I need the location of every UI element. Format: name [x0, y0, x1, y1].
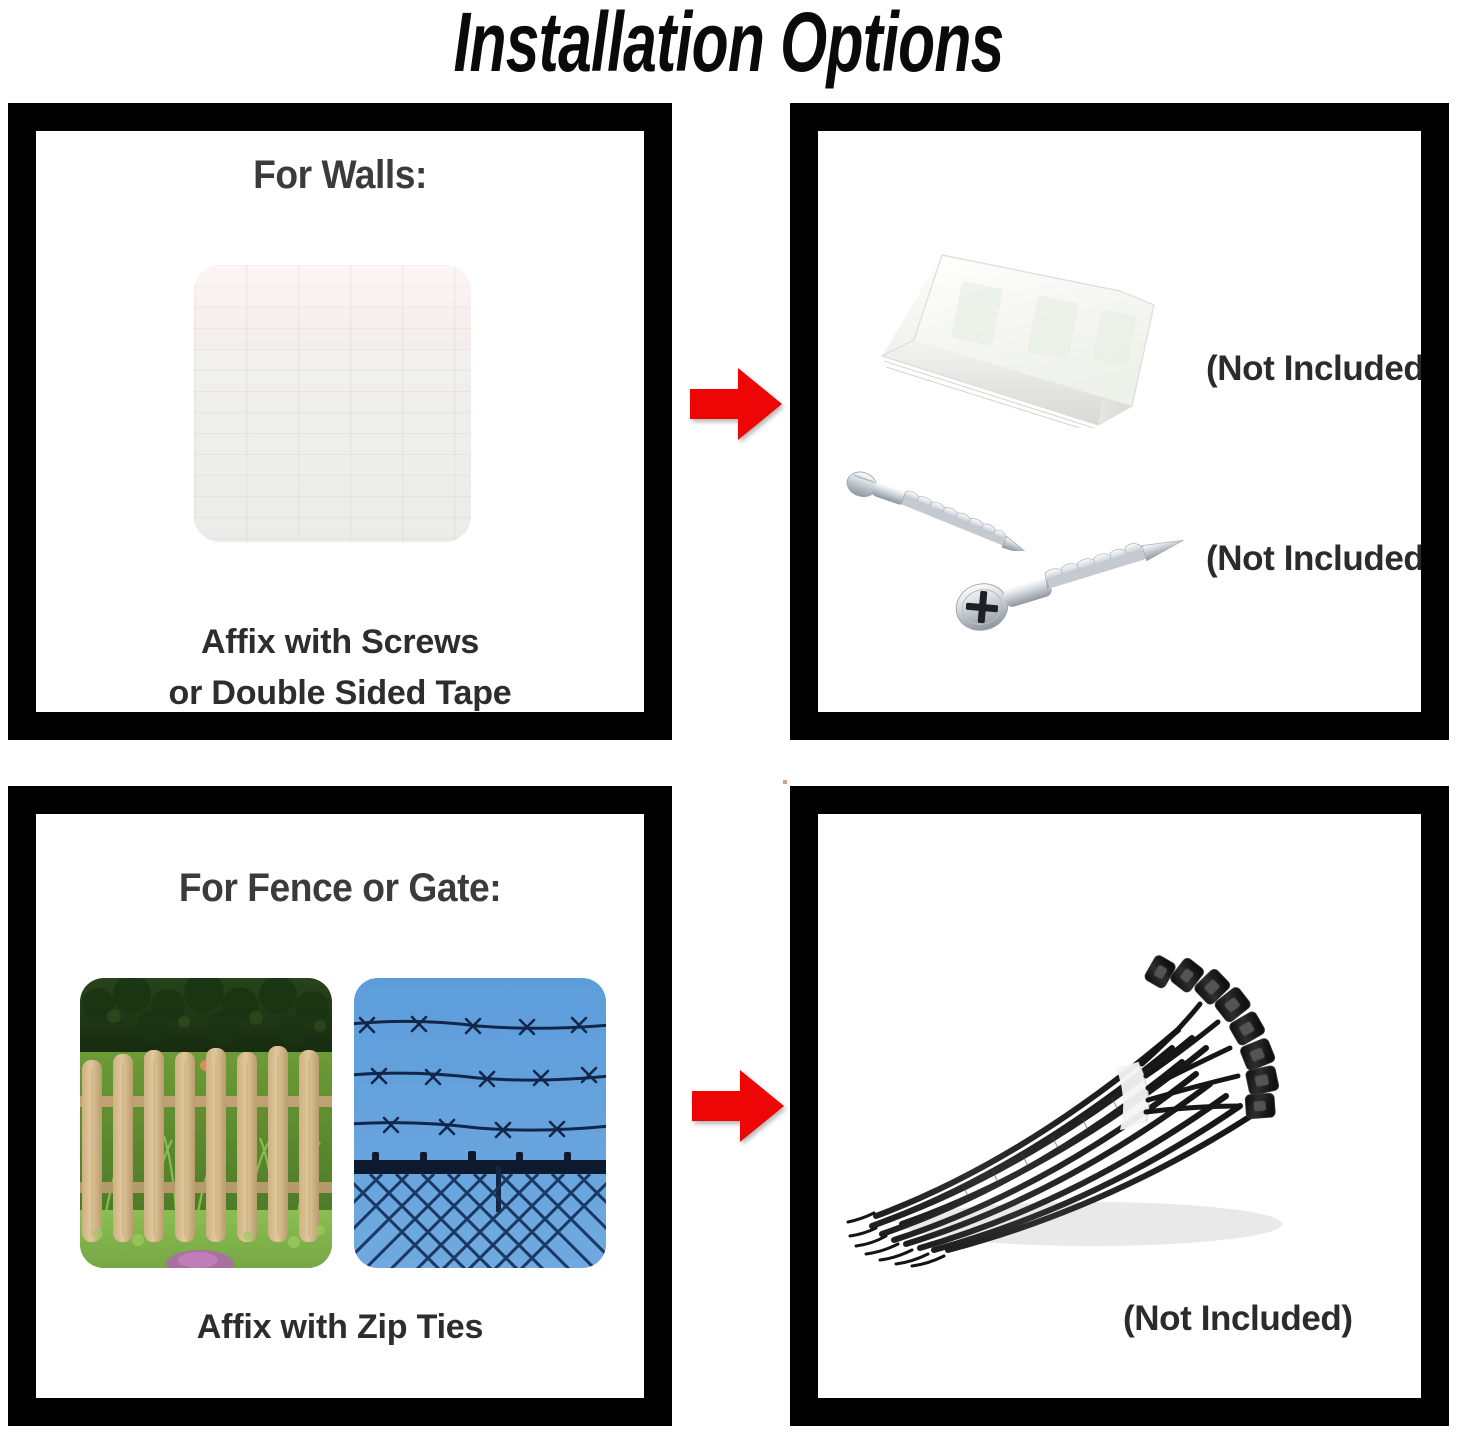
white-brick-wall-photo — [194, 265, 471, 542]
screws-not-included-note: (Not Included) — [1206, 539, 1421, 579]
panel-wall-hardware: (Not Included) — [790, 103, 1449, 740]
arrow-walls-to-hardware-icon — [690, 368, 782, 440]
for-fence-caption: Affix with Zip Ties — [36, 1308, 644, 1347]
for-fence-heading: For Fence or Gate: — [57, 866, 622, 911]
ziptie-not-included-note: (Not Included) — [1123, 1299, 1353, 1339]
zip-tie-bundle-icon — [842, 934, 1342, 1294]
wooden-picket-fence-photo — [80, 978, 332, 1268]
image-speck — [783, 780, 787, 784]
panel-fence-hardware: (Not Included) — [790, 786, 1449, 1426]
wood-screw-phillips-icon — [948, 523, 1198, 643]
for-walls-caption-line-2: or Double Sided Tape — [36, 674, 644, 712]
panel-fence-hardware-content: (Not Included) — [818, 814, 1421, 1398]
double-sided-tape-stack-icon — [870, 243, 1170, 428]
panel-for-walls-content: For Walls: Affix with Screws or Double S… — [36, 131, 644, 712]
tape-not-included-note: (Not Included) — [1206, 349, 1421, 389]
chain-link-barbed-wire-photo — [354, 978, 606, 1268]
for-walls-heading: For Walls: — [57, 153, 622, 198]
panel-for-fence-or-gate-content: For Fence or Gate: — [36, 814, 644, 1398]
panel-wall-hardware-content: (Not Included) — [818, 131, 1421, 712]
page-title: Installation Options — [204, 0, 1253, 91]
panel-for-walls: For Walls: Affix with Screws or Double S… — [8, 103, 672, 740]
arrow-fence-to-hardware-icon — [692, 1070, 784, 1142]
installation-options-infographic: Installation Options For Walls: Affix wi… — [0, 0, 1457, 1434]
panel-for-fence-or-gate: For Fence or Gate: — [8, 786, 672, 1426]
for-walls-caption-line-1: Affix with Screws — [36, 623, 644, 662]
